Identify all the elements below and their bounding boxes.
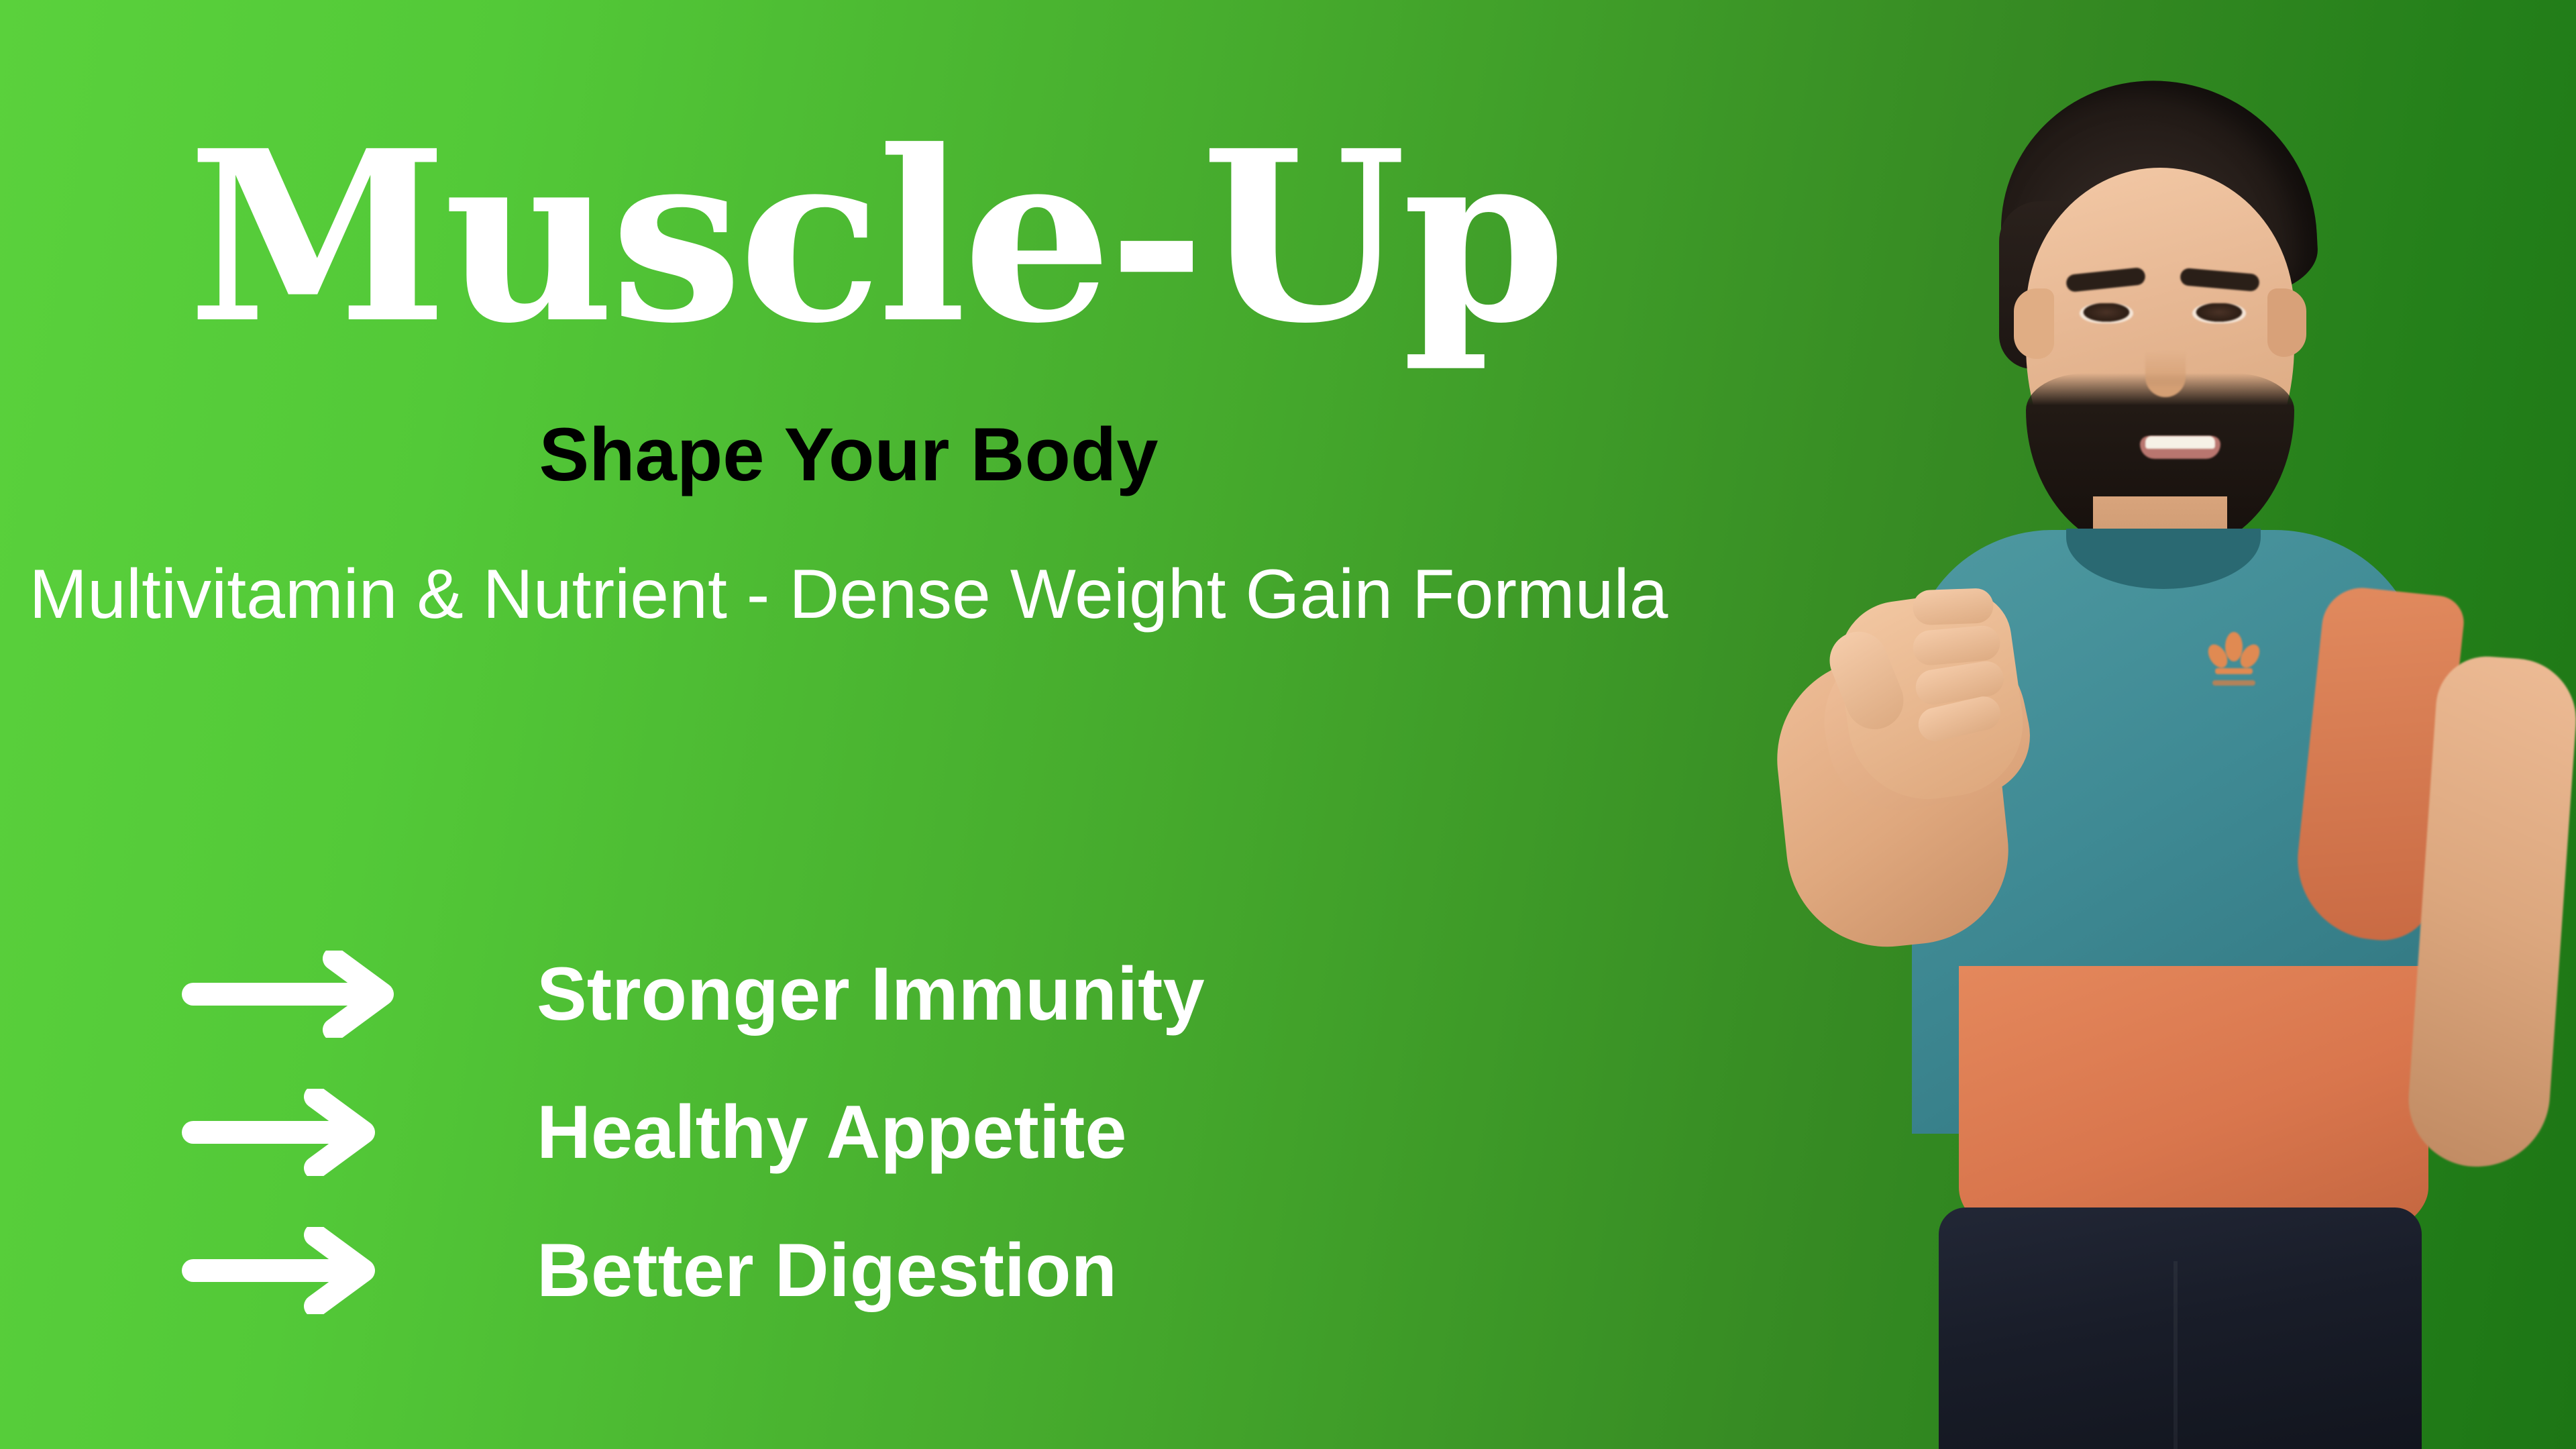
product-description: Multivitamin & Nutrient - Dense Weight G…: [0, 549, 1697, 641]
list-item: Stronger Immunity: [181, 934, 1523, 1055]
subtitle: Shape Your Body: [0, 417, 1697, 492]
arrow-right-icon: [181, 951, 409, 1038]
list-item: Healthy Appetite: [181, 1072, 1523, 1193]
leaf-crown-logo: [2202, 624, 2266, 698]
arrow-right-icon: [181, 1089, 389, 1176]
benefits-list: Stronger Immunity Healthy Appetite: [181, 934, 1523, 1331]
list-item: Better Digestion: [181, 1210, 1523, 1331]
model-ear-left: [2014, 288, 2054, 359]
model-ear-right: [2267, 288, 2306, 357]
benefit-label: Better Digestion: [537, 1233, 1117, 1308]
model-eye-right: [2192, 303, 2246, 323]
benefit-label: Stronger Immunity: [537, 957, 1205, 1032]
page-title: Muscle-Up: [188, 119, 1562, 354]
arrow-right-icon: [181, 1227, 389, 1314]
model-nose: [2145, 335, 2186, 397]
copy-block: Muscle-Up Shape Your Body Multivitamin &…: [0, 0, 1664, 1449]
benefit-label: Healthy Appetite: [537, 1095, 1127, 1170]
model-teeth: [2145, 436, 2215, 449]
model-shirt-orange: [1959, 966, 2428, 1248]
model-photo: Muscle-Up DIETARY SUPPLEMENT 60 capsules: [1623, 0, 2576, 1449]
model-eye-left: [2080, 303, 2133, 323]
model-pants-seam: [2173, 1261, 2178, 1449]
model-pants: [1939, 1207, 2422, 1449]
promo-banner: Muscle-Up Shape Your Body Multivitamin &…: [0, 0, 2576, 1449]
